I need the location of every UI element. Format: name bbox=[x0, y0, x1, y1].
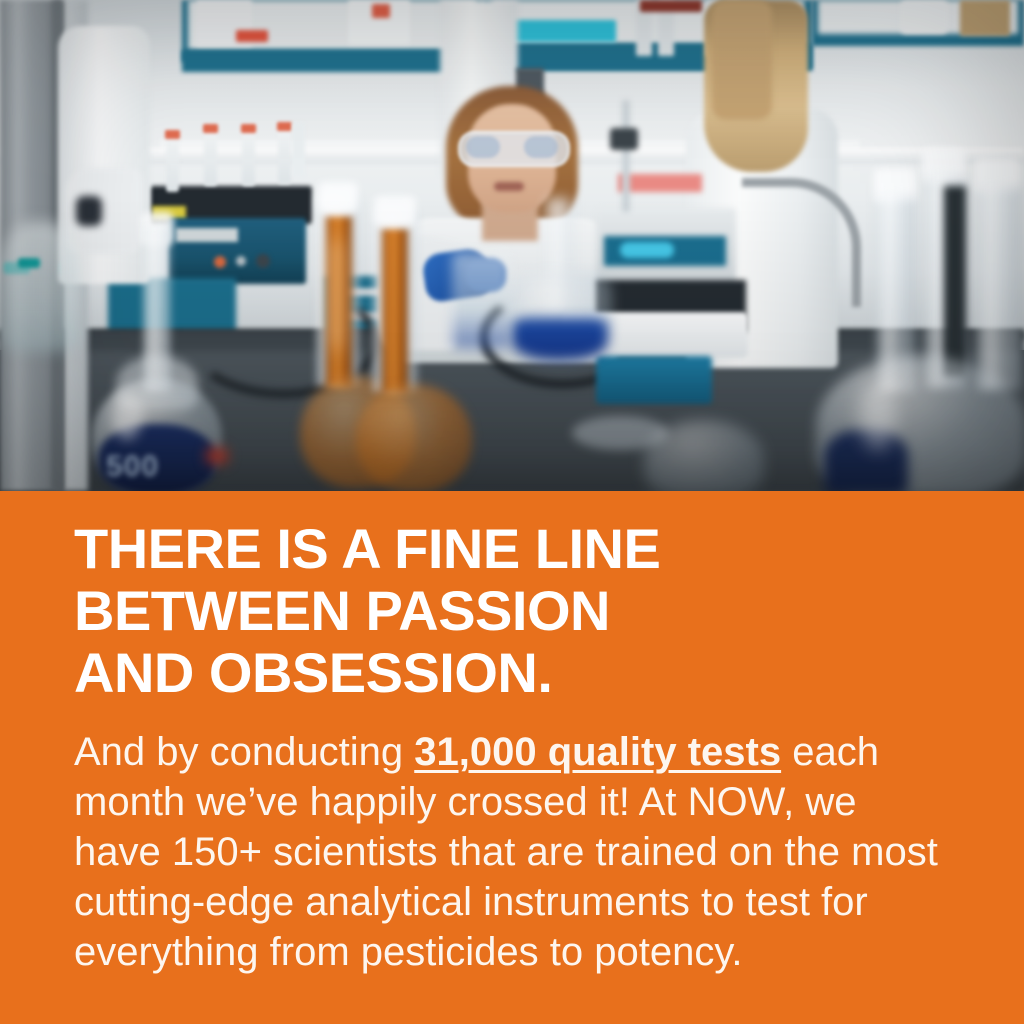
erlenmeyer-flask-liquid bbox=[512, 318, 608, 360]
scientist-right-hair-top bbox=[712, 0, 772, 120]
shaker-knob-2 bbox=[236, 256, 246, 266]
balance-base bbox=[596, 356, 712, 404]
test-tube-cap-2 bbox=[203, 124, 218, 133]
body-text-part-1: And by conducting bbox=[74, 730, 414, 774]
glass-flask-foreground-mid bbox=[644, 420, 764, 491]
amber-flask-2-stopper bbox=[374, 196, 416, 226]
amber-flask-1-stopper bbox=[318, 182, 358, 212]
test-tube-4 bbox=[278, 128, 291, 184]
dark-column-behind bbox=[944, 186, 966, 376]
amber-flask-2-liquid-column bbox=[382, 228, 408, 394]
bench-shaker-display bbox=[176, 228, 238, 242]
test-tube-cap-3 bbox=[241, 124, 256, 133]
headline-line-3: AND OBSESSION. bbox=[74, 642, 954, 704]
flask-500-highlight bbox=[112, 392, 142, 440]
cabinet-label-red-1 bbox=[236, 30, 268, 42]
retort-stand-rod bbox=[622, 100, 630, 212]
test-tube-cap-1 bbox=[165, 130, 180, 139]
cabinet-box-cyan bbox=[504, 20, 616, 42]
scientist-left-hand bbox=[76, 196, 102, 226]
bench-instrument-pink-panel bbox=[618, 174, 702, 192]
cabinet-label-red-2 bbox=[372, 4, 390, 18]
safety-goggles-lens-left bbox=[466, 136, 500, 158]
headline-line-1: THERE IS A FINE LINE bbox=[74, 518, 954, 580]
laboratory-photo: 500 bbox=[0, 0, 1024, 491]
small-beaker-blue bbox=[452, 252, 510, 348]
upper-cabinet-left-rail bbox=[182, 50, 482, 72]
cabinet-red-tray-right bbox=[640, 0, 702, 12]
cabinet-box-kraft bbox=[960, 0, 1010, 36]
teal-marking-flask bbox=[18, 258, 40, 268]
stat-emphasis-quality-tests: 31,000 quality tests bbox=[414, 730, 781, 774]
body-paragraph: And by conducting 31,000 quality tests e… bbox=[74, 727, 954, 977]
flask-500-label: 500 bbox=[106, 450, 192, 484]
test-tube-1 bbox=[166, 136, 179, 192]
headline-line-2: BETWEEN PASSION bbox=[74, 580, 954, 642]
amber-flask-2-body bbox=[356, 384, 472, 491]
orange-text-panel: THERE IS A FINE LINE BETWEEN PASSION AND… bbox=[0, 491, 1024, 1024]
test-tube-5 bbox=[292, 122, 305, 178]
test-tube-3 bbox=[242, 130, 255, 186]
bench-instrument-logo bbox=[620, 242, 674, 258]
safety-goggles-lens-right bbox=[524, 136, 558, 158]
test-tube-2 bbox=[204, 130, 217, 186]
amber-flask-highlight bbox=[330, 240, 342, 350]
glass-column-3 bbox=[976, 186, 1022, 390]
flask-left-edge bbox=[0, 222, 80, 352]
social-post-card: 500 THERE IS A FINE LINE BETWEEN PASS bbox=[0, 0, 1024, 1024]
shaker-knob-1 bbox=[214, 256, 226, 268]
scientist-center-mouth bbox=[494, 182, 524, 191]
flask-red-marking bbox=[206, 448, 228, 464]
glass-flask-right-highlight bbox=[860, 380, 896, 450]
page-title: THERE IS A FINE LINE BETWEEN PASSION AND… bbox=[74, 518, 954, 704]
test-tube-cap-4 bbox=[277, 122, 292, 131]
shaker-knob-3 bbox=[256, 254, 270, 268]
cabinet-jar-white bbox=[900, 0, 948, 34]
retort-stand-clamp bbox=[610, 128, 638, 150]
